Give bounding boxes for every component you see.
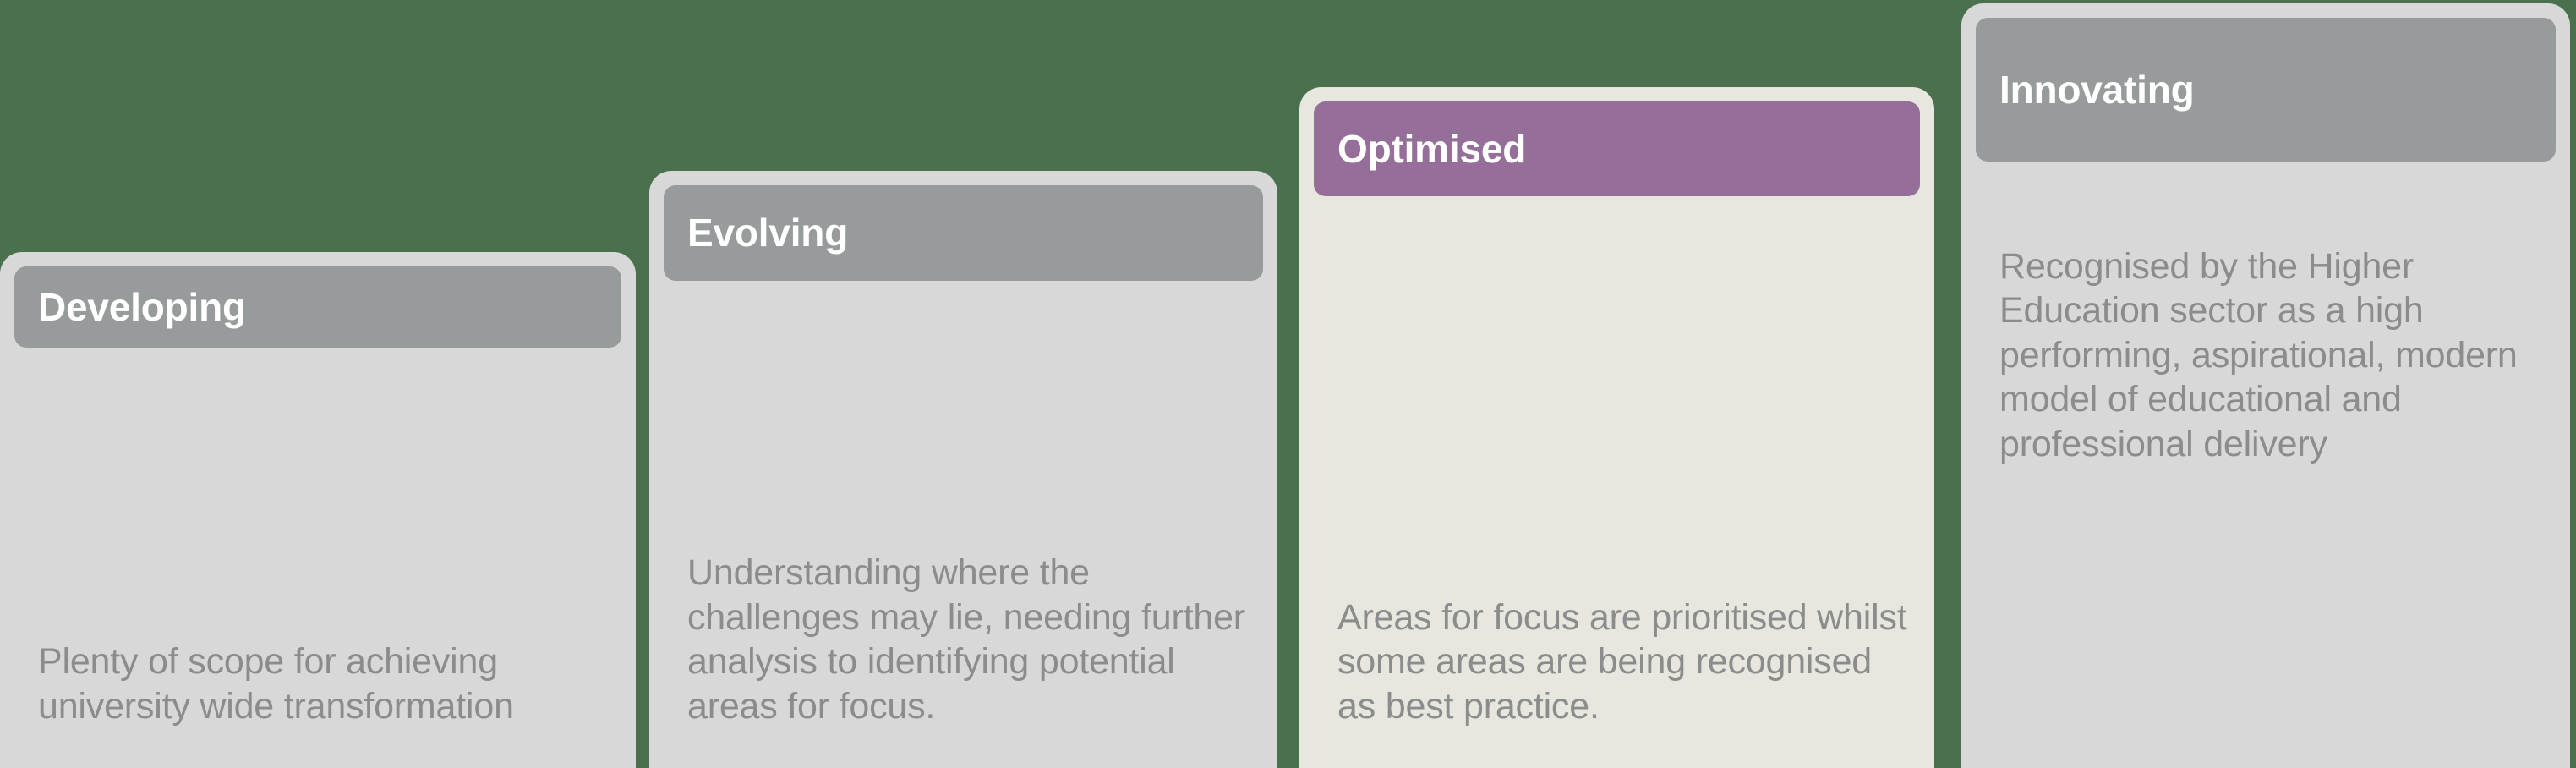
stage-description-evolving: Understanding where the challenges may l… [687, 551, 1255, 732]
stage-description-developing: Plenty of scope for achieving university… [38, 639, 613, 732]
maturity-stage-board: Developing Plenty of scope for achieving… [0, 0, 2576, 763]
stage-header-optimised: Optimised [1314, 101, 1920, 196]
stage-card-developing[interactable]: Developing Plenty of scope for achieving… [0, 252, 636, 768]
stage-card-optimised[interactable]: Optimised Areas for focus are prioritise… [1299, 87, 1934, 768]
stage-body-evolving: Understanding where the challenges may l… [664, 281, 1263, 768]
stage-description-innovating: Recognised by the Higher Education secto… [1999, 244, 2547, 469]
stage-title-optimised: Optimised [1337, 129, 1526, 169]
stage-body-innovating: Recognised by the Higher Education secto… [1976, 162, 2556, 768]
stage-description-optimised: Areas for focus are prioritised whilst s… [1337, 595, 1911, 732]
stage-card-evolving[interactable]: Evolving Understanding where the challen… [649, 171, 1277, 768]
stage-header-evolving: Evolving [664, 185, 1263, 281]
stage-body-developing: Plenty of scope for achieving university… [14, 348, 621, 768]
stage-body-optimised: Areas for focus are prioritised whilst s… [1314, 196, 1920, 768]
stage-title-evolving: Evolving [687, 212, 848, 253]
stage-title-innovating: Innovating [1999, 69, 2195, 110]
stage-title-developing: Developing [38, 287, 246, 327]
stage-card-innovating[interactable]: Innovating Recognised by the Higher Educ… [1961, 3, 2570, 768]
stage-header-developing: Developing [14, 266, 621, 348]
stage-header-innovating: Innovating [1976, 18, 2556, 162]
